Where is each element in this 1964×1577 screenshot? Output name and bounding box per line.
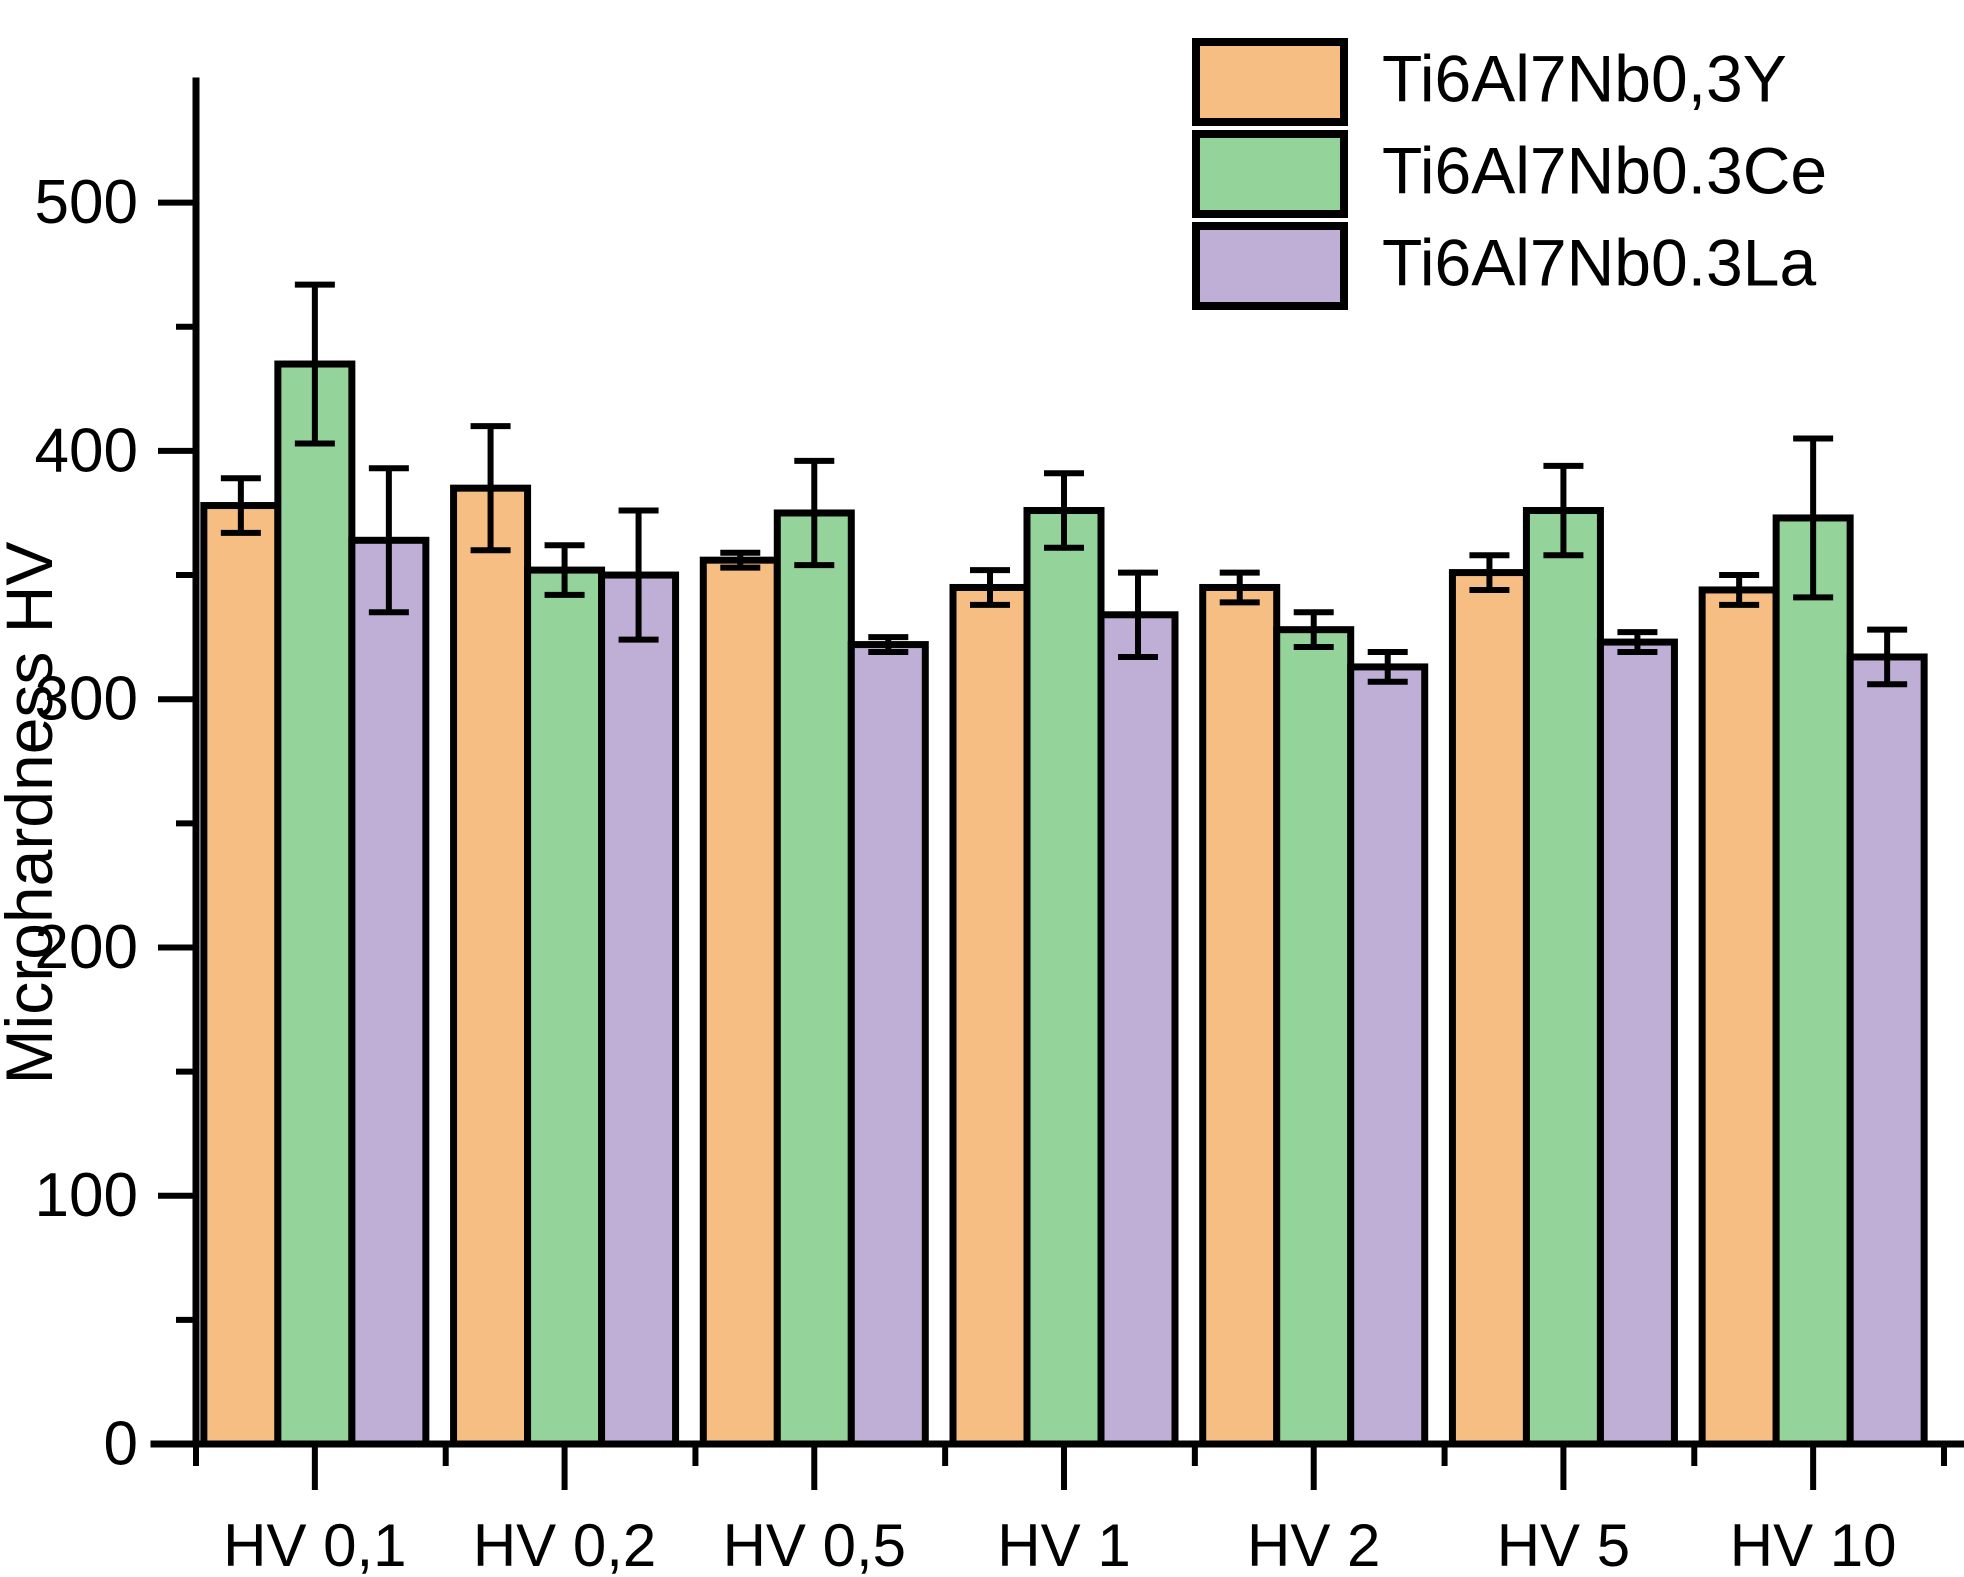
bar [1101, 615, 1175, 1444]
bar [1027, 511, 1101, 1444]
bar [1203, 587, 1277, 1444]
legend-label: Ti6Al7Nb0.3Ce [1382, 133, 1827, 207]
bar-chart: 0100200300400500 HV 0,1HV 0,2HV 0,5HV 1H… [0, 0, 1964, 1577]
x-tick-label: HV 0,5 [723, 1512, 906, 1577]
legend-label: Ti6Al7Nb0.3La [1382, 225, 1816, 299]
x-tick-label: HV 1 [997, 1512, 1130, 1577]
x-tick-label: HV 10 [1730, 1512, 1897, 1577]
legend-swatch [1196, 226, 1344, 306]
bar [1702, 590, 1776, 1444]
y-tick-label: 500 [35, 168, 138, 237]
bar [777, 513, 851, 1444]
x-tick-labels: HV 0,1HV 0,2HV 0,5HV 1HV 2HV 5HV 10 [223, 1512, 1896, 1577]
y-tick-label: 100 [35, 1161, 138, 1230]
legend-swatch [1196, 42, 1344, 122]
x-tick-label: HV 5 [1497, 1512, 1630, 1577]
legend-swatch [1196, 134, 1344, 214]
y-tick-label: 0 [104, 1409, 138, 1478]
bar [278, 364, 352, 1444]
bar [953, 587, 1027, 1444]
bar [851, 645, 925, 1444]
bar [1600, 642, 1674, 1444]
bar [1776, 518, 1850, 1444]
bar [454, 488, 528, 1444]
y-tick-label: 400 [35, 416, 138, 485]
bar [1452, 573, 1526, 1444]
legend-label: Ti6Al7Nb0,3Y [1382, 41, 1787, 115]
bar [204, 506, 278, 1444]
bar [1277, 630, 1351, 1444]
bar [703, 560, 777, 1444]
x-tick-label: HV 0,1 [223, 1512, 406, 1577]
bar [352, 540, 426, 1444]
x-tick-label: HV 0,2 [473, 1512, 656, 1577]
x-tick-label: HV 2 [1247, 1512, 1380, 1577]
bar [1526, 511, 1600, 1444]
bar [602, 575, 676, 1444]
chart-canvas: 0100200300400500 HV 0,1HV 0,2HV 0,5HV 1H… [0, 0, 1964, 1577]
bar [1850, 657, 1924, 1444]
bar [528, 570, 602, 1444]
bar [1351, 667, 1425, 1444]
legend: Ti6Al7Nb0,3YTi6Al7Nb0.3CeTi6Al7Nb0.3La [1196, 41, 1827, 306]
y-axis-title: Microhardness HV [0, 542, 66, 1085]
